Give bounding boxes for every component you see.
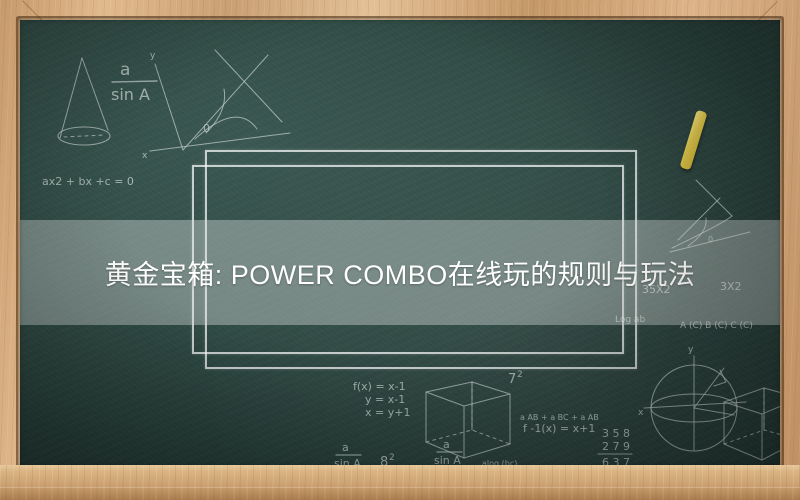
chalkboard-banner: a sin A y x 0 ax2 + bx +c = 0	[0, 0, 800, 500]
chalk-ledge	[0, 465, 800, 500]
board-bevel	[18, 18, 782, 467]
chalk-ledge-lip	[0, 487, 800, 500]
